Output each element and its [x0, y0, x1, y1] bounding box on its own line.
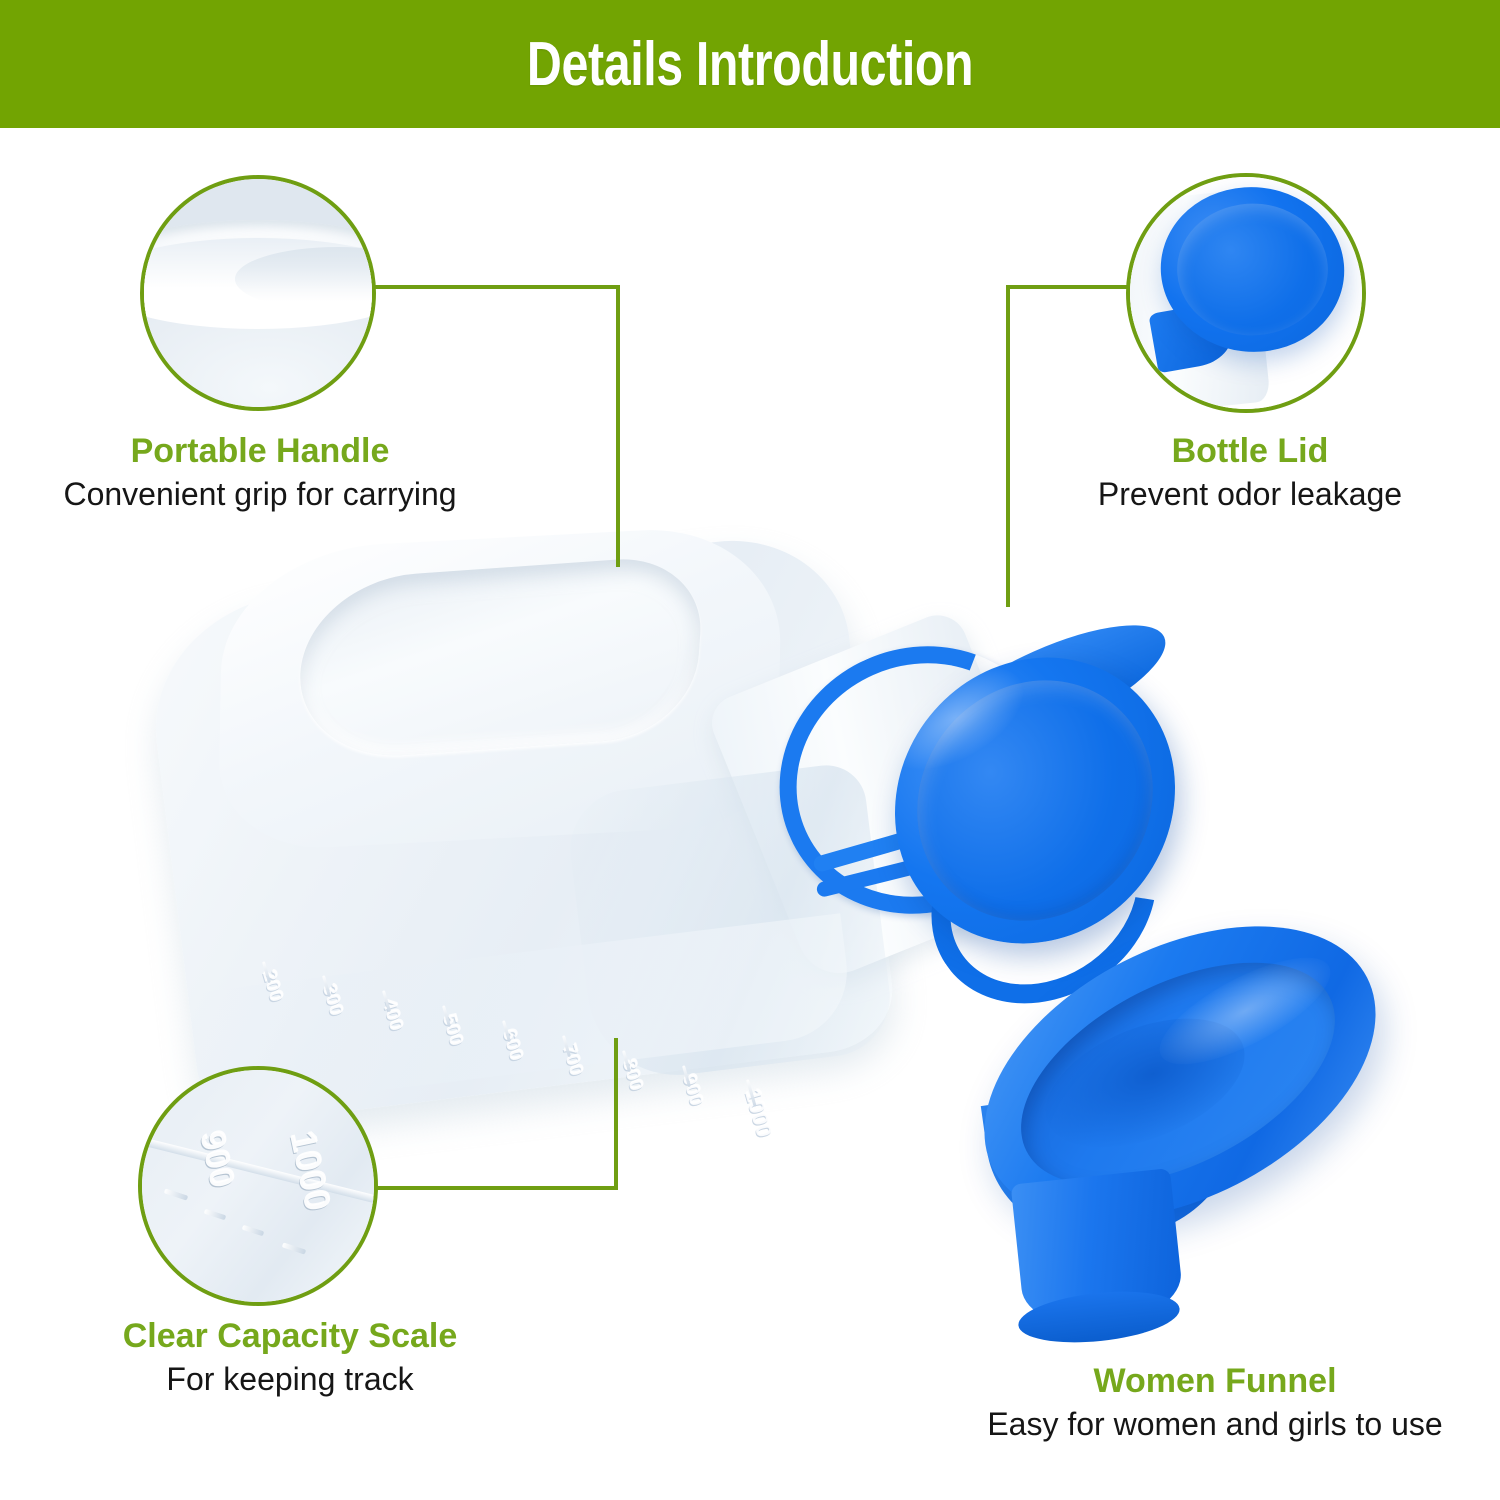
- callout-subtitle: For keeping track: [0, 1361, 580, 1398]
- callout-circle-bottle-lid: [1126, 173, 1366, 413]
- scale-number-max: 1000: [739, 1086, 777, 1140]
- connector-line-capacity-scale: [614, 1038, 618, 1190]
- scale-number: 800: [617, 1057, 647, 1094]
- women-funnel-illustration: [960, 938, 1400, 1358]
- scale-number: 500: [437, 1012, 467, 1049]
- zoom-scale-detail: 900 1000: [142, 1070, 374, 1302]
- connector-line-portable-handle: [372, 285, 620, 289]
- label-capacity-scale: Clear Capacity Scale For keeping track: [0, 1318, 580, 1398]
- connector-line-capacity-scale: [372, 1186, 618, 1190]
- scale-number: 300: [317, 982, 347, 1019]
- callout-title: Bottle Lid: [1000, 433, 1500, 470]
- scale-number: 600: [497, 1027, 527, 1064]
- scale-number: 900: [677, 1072, 707, 1109]
- infographic-stage: 200 300 400 500 600 700 800 900 1000: [0, 128, 1500, 1500]
- scale-number: 400: [377, 997, 407, 1034]
- zoom-handle-detail: [144, 179, 372, 407]
- scale-number: 700: [557, 1042, 587, 1079]
- connector-line-bottle-lid: [1006, 285, 1134, 289]
- label-women-funnel: Women Funnel Easy for women and girls to…: [930, 1363, 1500, 1443]
- zoom-lid-detail: [1130, 177, 1362, 409]
- header-banner: Details Introduction: [0, 0, 1500, 128]
- callout-title: Women Funnel: [930, 1363, 1500, 1400]
- callout-subtitle: Prevent odor leakage: [1000, 476, 1500, 513]
- callout-subtitle: Convenient grip for carrying: [0, 476, 520, 513]
- callout-circle-capacity-scale: 900 1000: [138, 1066, 378, 1306]
- page-title: Details Introduction: [527, 29, 973, 100]
- scale-number: 200: [257, 968, 287, 1005]
- callout-title: Portable Handle: [0, 433, 520, 470]
- label-bottle-lid: Bottle Lid Prevent odor leakage: [1000, 433, 1500, 513]
- callout-title: Clear Capacity Scale: [0, 1318, 580, 1355]
- callout-circle-portable-handle: [140, 175, 376, 411]
- callout-subtitle: Easy for women and girls to use: [930, 1406, 1500, 1443]
- label-portable-handle: Portable Handle Convenient grip for carr…: [0, 433, 520, 513]
- connector-line-portable-handle: [616, 285, 620, 567]
